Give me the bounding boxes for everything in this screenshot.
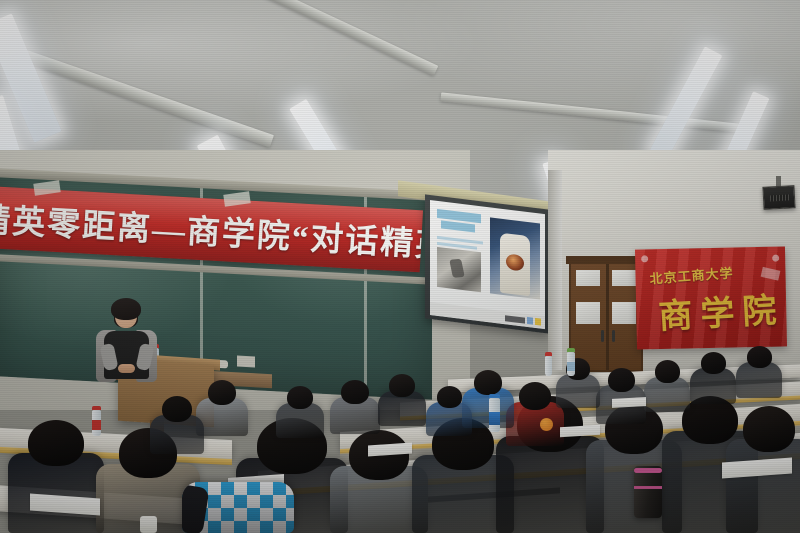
person-head (287, 386, 313, 409)
water-bottle-front (489, 398, 500, 432)
lecture-hall-photo: 与精英零距离—商学院“对话精英” (0, 0, 800, 533)
person-head (474, 370, 502, 395)
audience-person (426, 386, 472, 436)
audience-person (556, 358, 600, 408)
thermos-flask (634, 466, 662, 518)
water-bottle-label (489, 412, 500, 425)
checkered-backpack (182, 482, 294, 533)
person-head (743, 406, 795, 452)
water-bottle-left-cap-icon (92, 406, 101, 410)
audience-person (736, 346, 782, 398)
water-bottle-left (92, 410, 101, 436)
audience-person (150, 396, 204, 454)
audience-person (8, 420, 104, 533)
audience-person (330, 380, 380, 434)
person-head (747, 346, 772, 368)
person-head (519, 382, 551, 410)
person-head (608, 368, 635, 392)
water-bottle-rear (567, 352, 575, 376)
person-head (701, 352, 726, 374)
person-head (28, 420, 84, 466)
backpack-shading (182, 482, 294, 533)
thermos-lid-ring (634, 468, 662, 473)
audience-person (644, 360, 690, 412)
water-bottle-rear-cap-icon (567, 348, 575, 352)
audience-person (276, 386, 324, 438)
person-head (389, 374, 415, 397)
notebook-5 (612, 397, 646, 408)
person-head (162, 396, 192, 422)
person-head (437, 386, 462, 408)
audience-person (690, 352, 736, 404)
cup-front (140, 516, 157, 533)
person-head (341, 380, 369, 404)
water-bottle-cap-icon (489, 394, 500, 398)
water-bottle-far-cap-icon (545, 352, 552, 356)
water-bottle-left-label (92, 420, 101, 430)
person-head (208, 380, 236, 405)
person-head (655, 360, 680, 383)
thermos-body-ring (634, 486, 662, 489)
person-body (726, 439, 800, 533)
audience-person (596, 368, 646, 424)
water-bottle-rear-label (567, 362, 575, 371)
audience-person (378, 374, 426, 426)
orange-fruit (540, 418, 553, 431)
water-bottle-far (545, 356, 552, 376)
